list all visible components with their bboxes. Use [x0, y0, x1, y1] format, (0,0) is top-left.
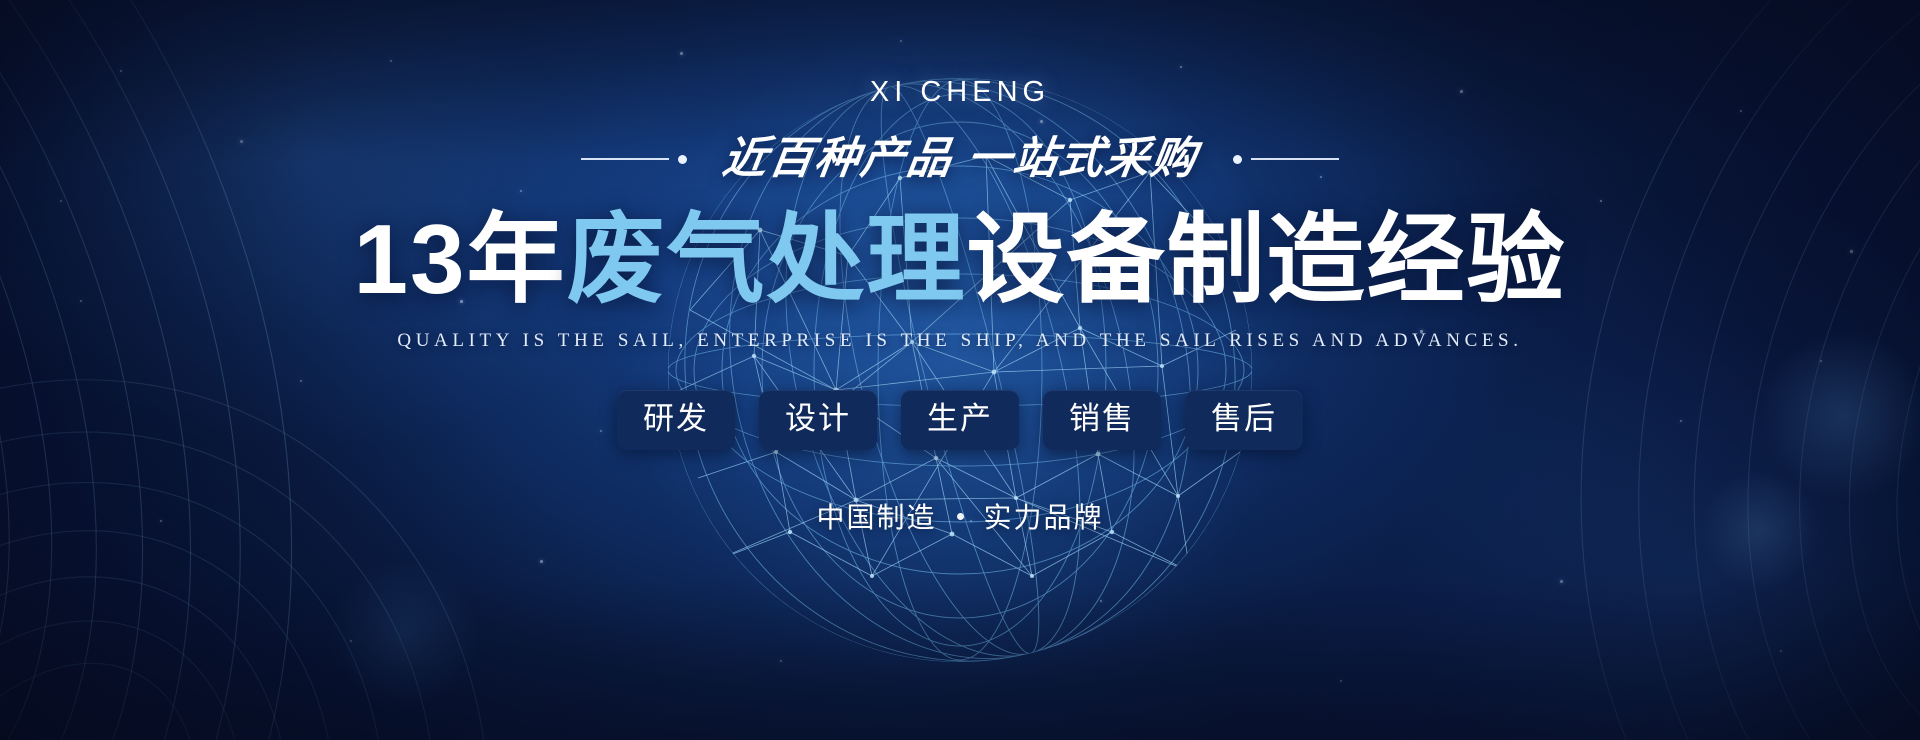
footer-tagline-right: 实力品牌	[984, 496, 1104, 536]
banner-content: XI CHENG 近百种产品 一站式采购 13年废气处理设备制造经验 QUALI…	[0, 0, 1920, 740]
pill-shengchan[interactable]: 生产	[901, 390, 1019, 451]
rule-right-bar	[1251, 158, 1339, 160]
headline-part-2: 废气处理	[566, 204, 966, 314]
pill-shouhou[interactable]: 售后	[1185, 390, 1303, 451]
footer-tagline-left: 中国制造	[816, 496, 936, 536]
tagline-english: QUALITY IS THE SAIL, ENTERPRISE IS THE S…	[397, 331, 1522, 350]
rule-right-dot	[1233, 155, 1242, 164]
subtitle-text: 近百种产品 一站式采购	[706, 137, 1214, 181]
headline-part-3: 设备制造经验	[967, 204, 1567, 314]
pill-yanfa[interactable]: 研发	[617, 390, 735, 451]
footer-separator-dot	[957, 513, 964, 520]
footer-tagline: 中国制造 实力品牌	[816, 496, 1103, 536]
pill-sheji[interactable]: 设计	[759, 390, 877, 451]
headline: 13年废气处理设备制造经验	[353, 207, 1566, 313]
rule-left-icon	[581, 155, 687, 164]
pill-xiaoshou[interactable]: 销售	[1043, 390, 1161, 451]
brand-name-en: XI CHENG	[870, 78, 1050, 107]
rule-right-icon	[1233, 155, 1339, 164]
service-pill-list: 研发 设计 生产 销售 售后	[617, 390, 1303, 451]
rule-left-bar	[581, 158, 669, 160]
subtitle-row: 近百种产品 一站式采购	[581, 137, 1339, 181]
rule-left-dot	[678, 155, 687, 164]
headline-part-1: 13年	[353, 204, 566, 314]
hero-banner: XI CHENG 近百种产品 一站式采购 13年废气处理设备制造经验 QUALI…	[0, 0, 1920, 740]
